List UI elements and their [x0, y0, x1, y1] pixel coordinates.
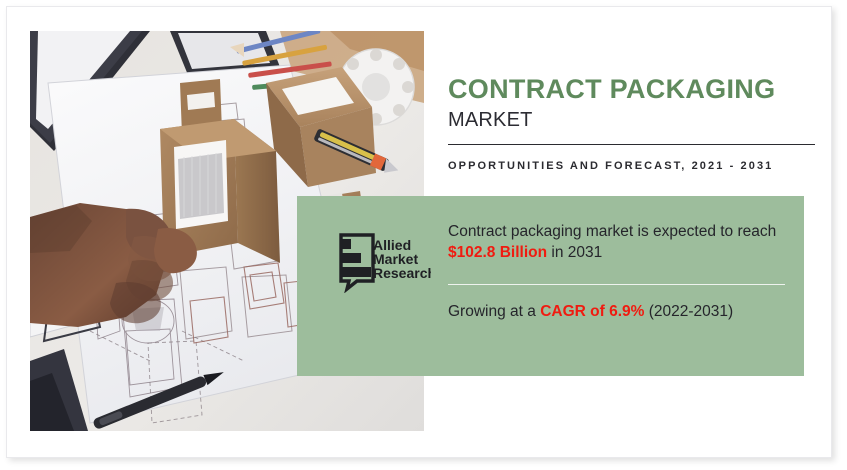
forecast-kicker: OPPORTUNITIES AND FORECAST, 2021 - 2031: [448, 158, 808, 175]
logo-mark-icon: Allied Market Research: [339, 233, 431, 293]
page-subtitle: MARKET: [448, 110, 533, 130]
market-size-value: $102.8 Billion: [448, 244, 547, 261]
allied-market-research-logo: Allied Market Research: [339, 233, 431, 293]
title-divider: [448, 144, 815, 145]
cagr-statement: Growing at a CAGR of 6.9% (2022-2031): [448, 301, 778, 322]
page-title: CONTRACT PACKAGING: [448, 76, 775, 103]
stat-block: Contract packaging market is expected to…: [448, 196, 796, 376]
stat-divider: [448, 284, 785, 285]
svg-text:Research: Research: [373, 265, 431, 281]
market-size-suffix: in 2031: [547, 244, 602, 261]
market-size-prefix: Contract packaging market is expected to…: [448, 223, 776, 240]
cagr-prefix: Growing at a: [448, 303, 540, 320]
cagr-value: CAGR of 6.9%: [540, 303, 644, 320]
cagr-suffix: (2022-2031): [644, 303, 733, 320]
screenshot-root: CONTRACT PACKAGING MARKET OPPORTUNITIES …: [0, 0, 847, 470]
market-size-statement: Contract packaging market is expected to…: [448, 221, 778, 263]
market-report-card: CONTRACT PACKAGING MARKET OPPORTUNITIES …: [6, 6, 832, 458]
